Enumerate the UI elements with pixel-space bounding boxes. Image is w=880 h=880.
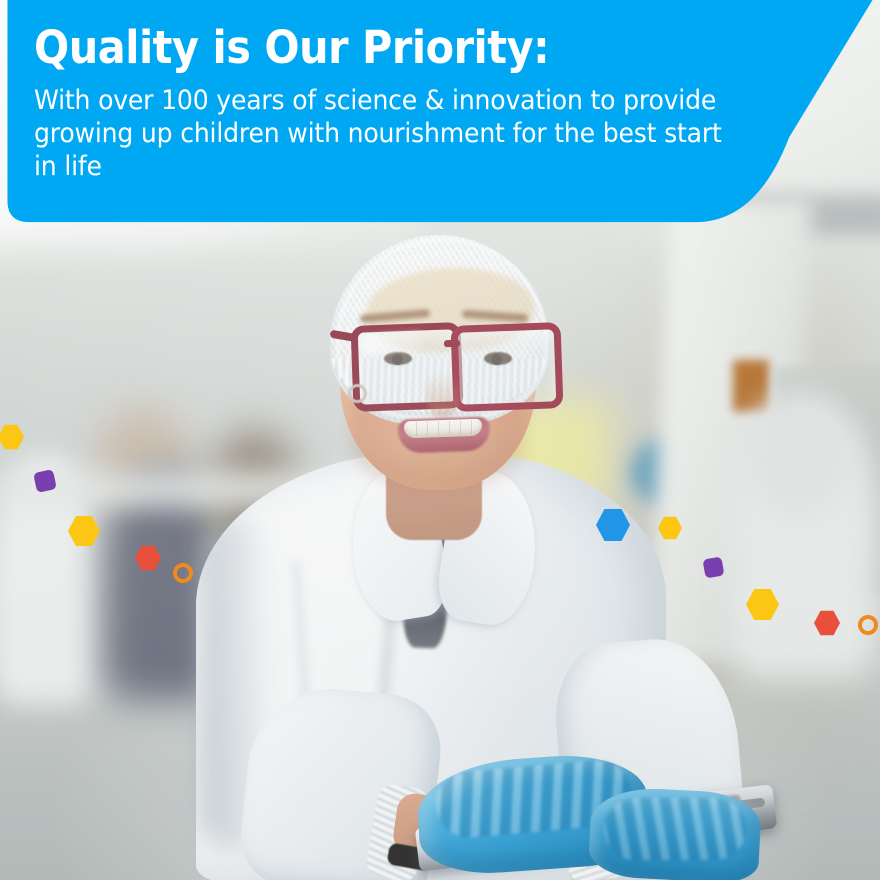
- ring-orange-left-decoration: [173, 563, 193, 583]
- hexagon-icon: [596, 508, 630, 542]
- promo-banner-image: Quality is Our Priority: With over 100 y…: [0, 0, 880, 880]
- earring: [348, 384, 367, 403]
- hexagon-icon: [0, 424, 24, 450]
- hex-yellow-right-1-decoration: [658, 516, 682, 540]
- square-purple-left-decoration: [33, 469, 57, 493]
- page-title: Quality is Our Priority:: [34, 22, 715, 74]
- glove-right-fingers: [604, 798, 746, 860]
- hex-yellow-left-1-decoration: [0, 424, 24, 450]
- ring-orange-right-decoration: [858, 615, 878, 635]
- hexagon-icon: [135, 545, 161, 571]
- page-subtitle: With over 100 years of science & innovat…: [34, 84, 722, 183]
- glasses-bridge: [444, 340, 460, 348]
- nose: [426, 372, 460, 418]
- hex-yellow-right-2-decoration: [746, 588, 779, 621]
- hexagon-icon: [746, 588, 779, 621]
- hex-blue-right-decoration: [596, 508, 630, 542]
- hexagon-icon: [68, 515, 100, 547]
- square-purple-right-decoration: [702, 556, 724, 578]
- headline-banner-text: Quality is Our Priority: With over 100 y…: [34, 22, 774, 183]
- hexagon-icon: [814, 610, 840, 636]
- hex-red-right-decoration: [814, 610, 840, 636]
- hex-yellow-left-2-decoration: [68, 515, 100, 547]
- square-icon: [33, 469, 57, 493]
- teeth-gaps: [406, 420, 480, 437]
- square-icon: [702, 556, 724, 578]
- ring-icon: [173, 563, 193, 583]
- ring-icon: [858, 615, 878, 635]
- hexagon-icon: [658, 516, 682, 540]
- hex-red-left-decoration: [135, 545, 161, 571]
- glasses-lens-right: [451, 322, 564, 412]
